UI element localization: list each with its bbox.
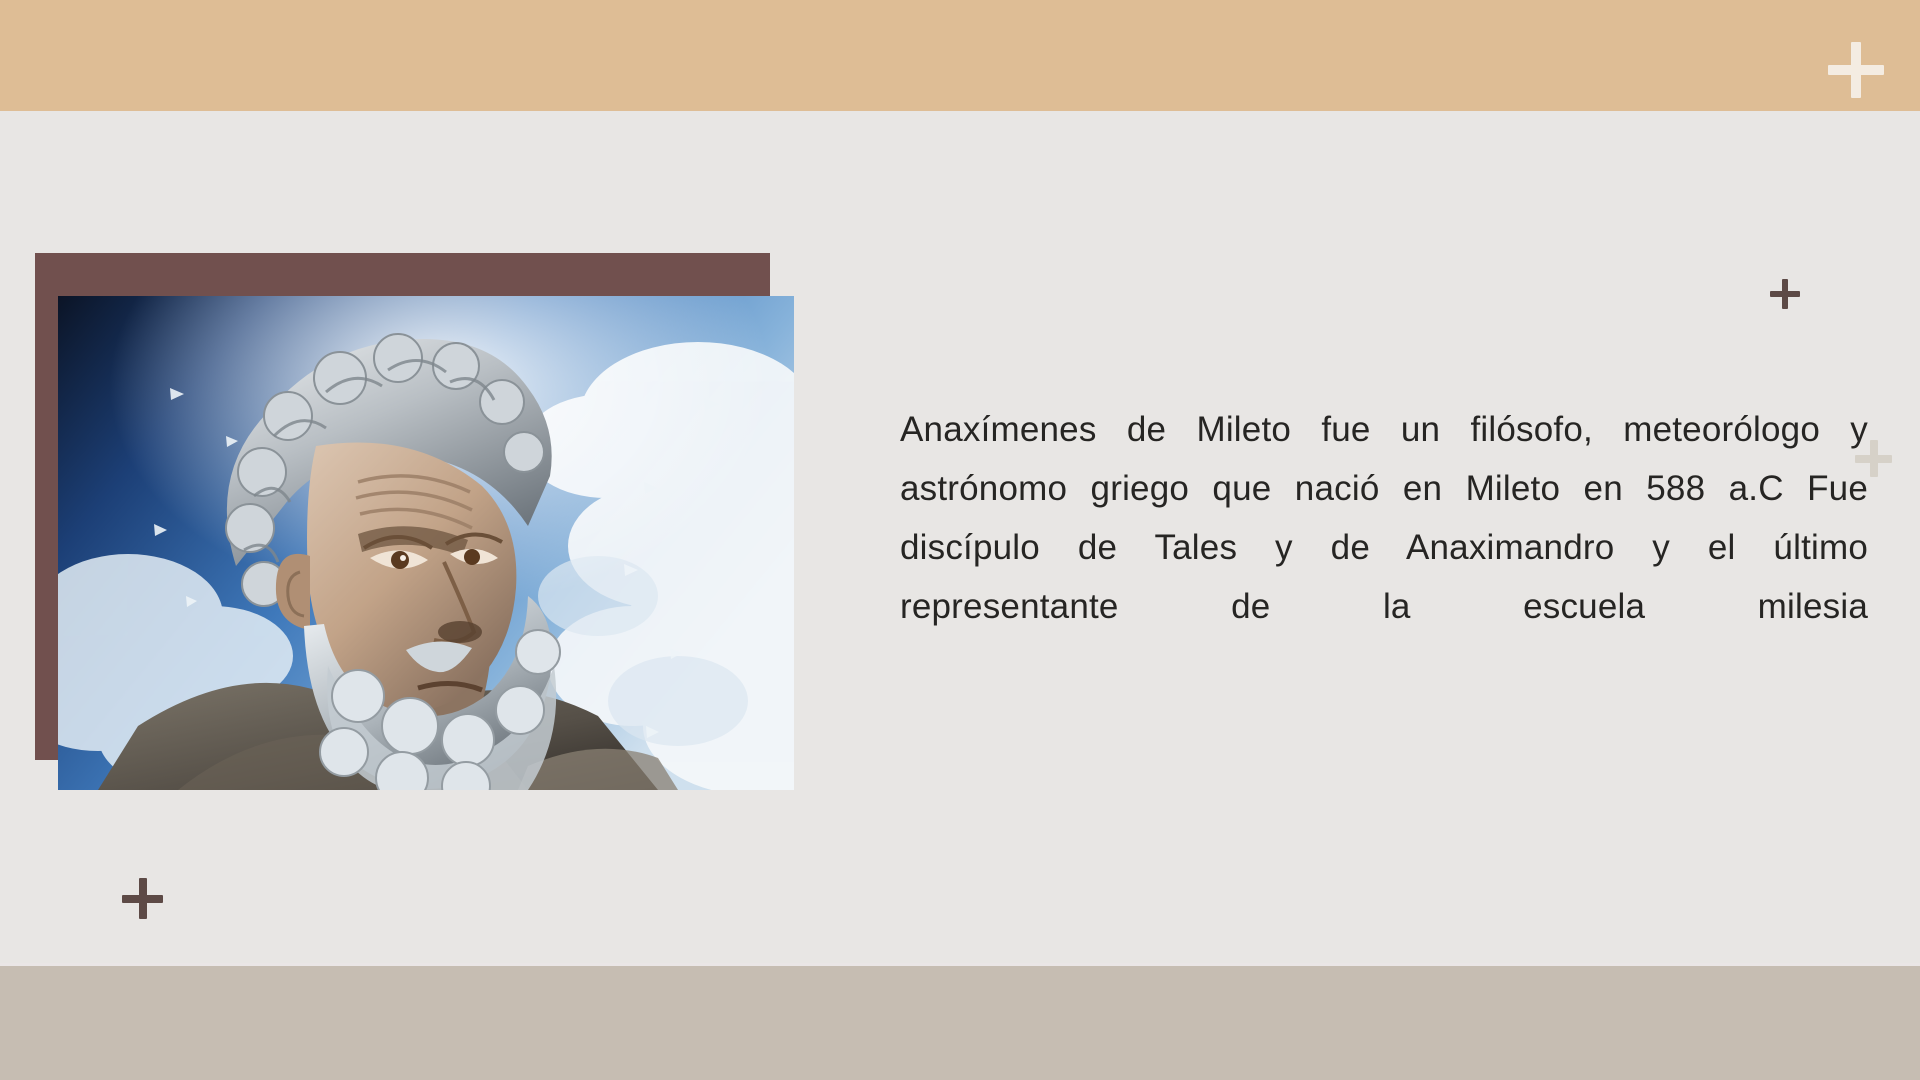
plus-icon-vertical-bar bbox=[139, 878, 147, 919]
top-decorative-band bbox=[0, 0, 1920, 111]
plus-icon-header bbox=[1828, 42, 1884, 98]
bottom-decorative-band bbox=[0, 966, 1920, 1080]
slide-body-paragraph: Anaxímenes de Mileto fue un filósofo, me… bbox=[900, 400, 1868, 695]
plus-icon-vertical-bar bbox=[1851, 42, 1861, 98]
philosopher-image[interactable] bbox=[58, 296, 794, 790]
plus-icon-bottom-left bbox=[122, 878, 163, 919]
image-block[interactable] bbox=[35, 253, 794, 790]
plus-icon-right-top bbox=[1770, 279, 1800, 309]
plus-icon-vertical-bar bbox=[1782, 279, 1788, 309]
philosopher-illustration bbox=[58, 296, 794, 790]
plus-icon-vertical-bar bbox=[1870, 440, 1878, 477]
